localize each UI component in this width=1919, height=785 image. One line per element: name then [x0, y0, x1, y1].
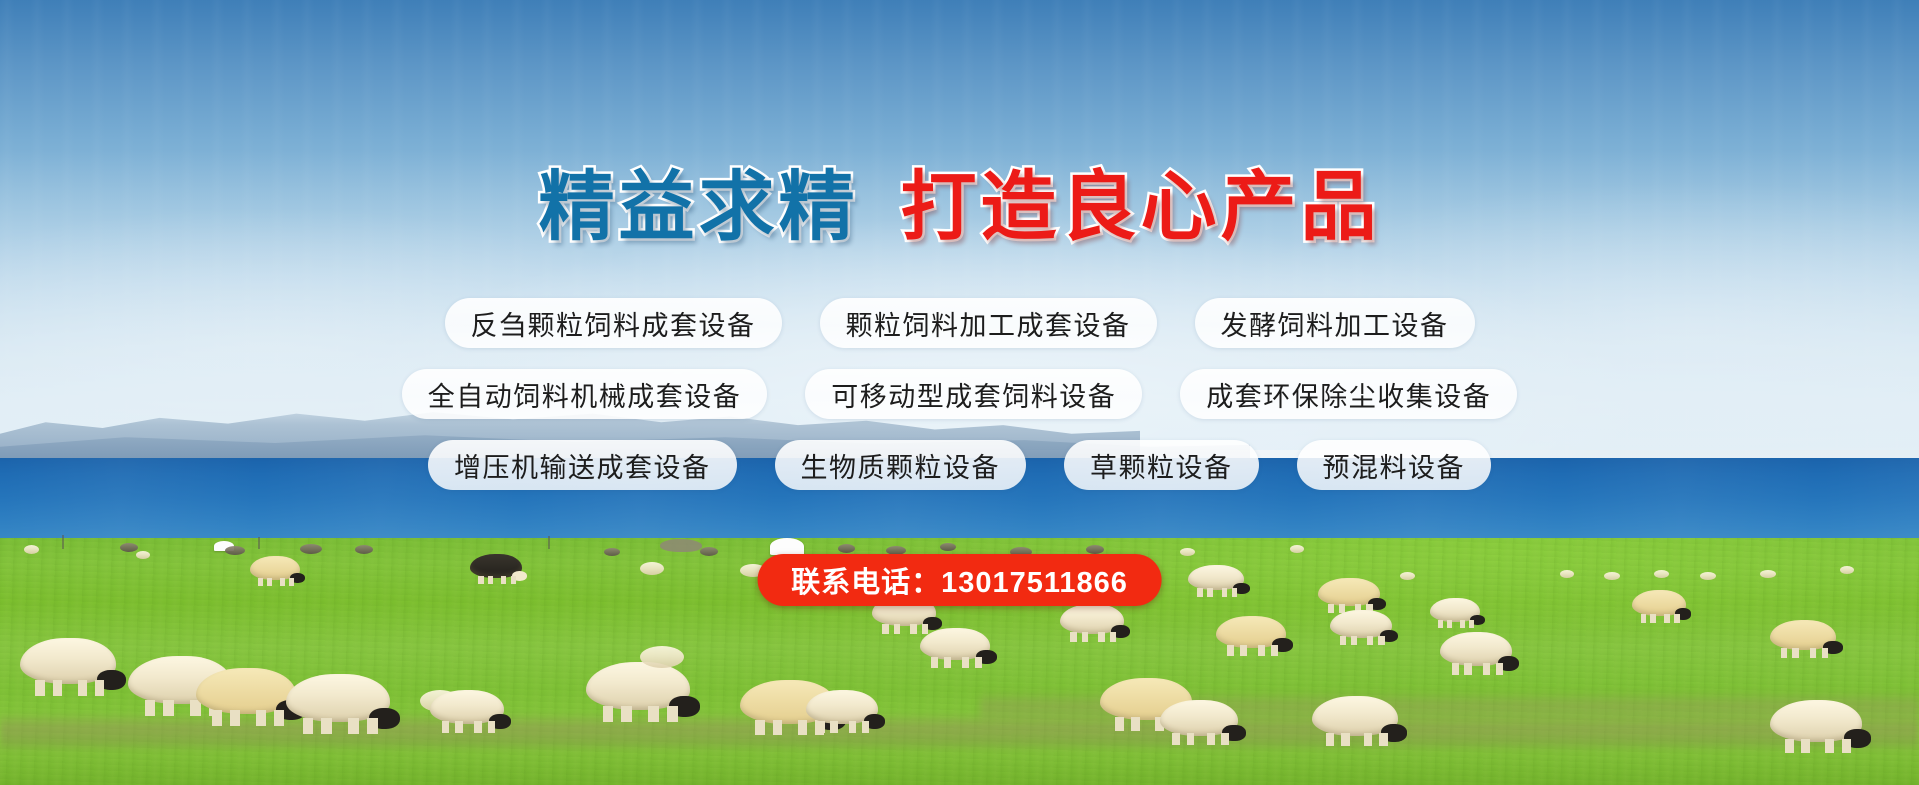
sheep [586, 662, 690, 710]
sheep [1312, 696, 1398, 736]
contact-phone-badge[interactable]: 联系电话：13017511866 [757, 554, 1162, 606]
rock [660, 539, 702, 552]
sheep [1770, 700, 1862, 742]
sheep [430, 690, 504, 724]
page-title: 精益求精打造良心产品 [0, 170, 1919, 246]
sheep [806, 690, 878, 724]
sheep [1632, 590, 1686, 616]
sheep [136, 551, 150, 559]
fence-post [62, 535, 64, 549]
product-pill[interactable]: 生物质颗粒设备 [775, 440, 1027, 490]
sheep [838, 544, 855, 553]
product-pill[interactable]: 成套环保除尘收集设备 [1180, 369, 1517, 419]
sheep [1180, 548, 1195, 556]
sheep [250, 556, 300, 580]
product-pill[interactable]: 可移动型成套饲料设备 [805, 369, 1142, 419]
sheep [940, 543, 956, 551]
sheep [1840, 566, 1854, 574]
sheep [24, 545, 39, 554]
sheep [1318, 578, 1380, 606]
sheep [1700, 572, 1716, 580]
fence-post [258, 537, 260, 549]
sheep [1188, 565, 1244, 590]
banner-stage: 精益求精打造良心产品 反刍颗粒饲料成套设备 颗粒饲料加工成套设备 发酵饲料加工设… [0, 0, 1919, 785]
sheep [1060, 604, 1124, 634]
headline-red-text: 打造良心产品 [901, 165, 1381, 250]
product-pill[interactable]: 预混料设备 [1297, 440, 1492, 490]
sheep [470, 554, 522, 578]
sheep [225, 546, 245, 555]
product-pill[interactable]: 全自动饲料机械成套设备 [402, 369, 768, 419]
sheep [286, 674, 390, 722]
sheep [1216, 616, 1286, 648]
sheep [300, 544, 322, 554]
sheep [1086, 545, 1104, 554]
sheep [640, 562, 664, 575]
yurt [770, 538, 804, 555]
sheep [604, 548, 620, 556]
product-pill-row-3: 增压机输送成套设备 生物质颗粒设备 草颗粒设备 预混料设备 [0, 440, 1919, 490]
sheep [700, 547, 718, 556]
sheep [640, 646, 684, 668]
sheep [1560, 570, 1574, 578]
headline-blue-text: 精益求精 [539, 165, 859, 250]
fence-post [548, 536, 550, 549]
sheep [1290, 545, 1304, 553]
sheep [1160, 700, 1238, 736]
sheep [1654, 570, 1669, 578]
sheep [1760, 570, 1776, 578]
sheep [1440, 632, 1512, 666]
sheep [1330, 610, 1392, 638]
sheep [920, 628, 990, 660]
sheep [1604, 572, 1620, 580]
sheep [355, 545, 373, 554]
product-pill[interactable]: 发酵饲料加工设备 [1195, 298, 1475, 348]
sheep [196, 668, 296, 714]
product-pill-row-1: 反刍颗粒饲料成套设备 颗粒饲料加工成套设备 发酵饲料加工设备 [0, 298, 1919, 348]
sheep [1400, 572, 1415, 580]
sheep [1770, 620, 1836, 650]
product-pill[interactable]: 增压机输送成套设备 [428, 440, 737, 490]
product-pill[interactable]: 反刍颗粒饲料成套设备 [445, 298, 782, 348]
sheep [1430, 598, 1480, 622]
product-pill[interactable]: 草颗粒设备 [1064, 440, 1259, 490]
product-pill-row-2: 全自动饲料机械成套设备 可移动型成套饲料设备 成套环保除尘收集设备 [0, 369, 1919, 419]
product-pill[interactable]: 颗粒饲料加工成套设备 [820, 298, 1157, 348]
sheep [20, 638, 116, 684]
